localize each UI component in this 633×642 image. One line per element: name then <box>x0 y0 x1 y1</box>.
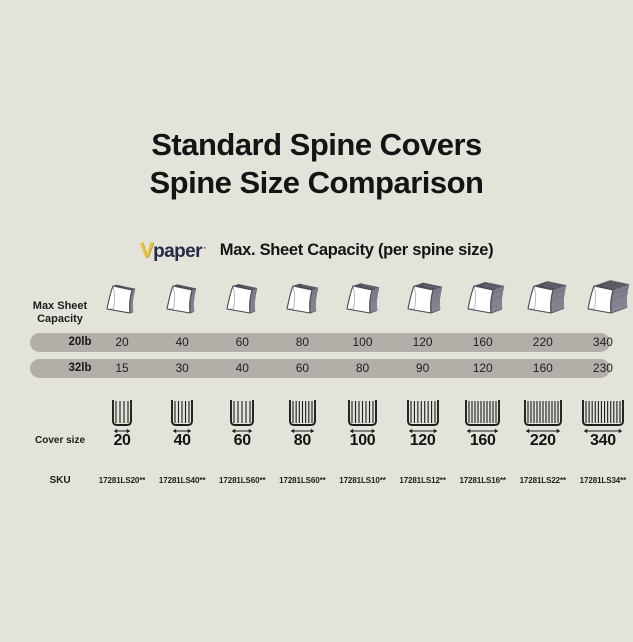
cover-size-cell: 60 <box>212 430 272 452</box>
capacity-cell-32lb: 90 <box>393 359 453 378</box>
cover-size-value-row: 20406080100120160220340 <box>92 430 633 452</box>
paper-stack-icon <box>393 277 453 325</box>
cover-size-cell: 100 <box>332 430 392 452</box>
sku-cell: 17281LS12** <box>393 473 453 489</box>
paper-stack-icon <box>453 277 513 325</box>
paper-stack-icon <box>573 277 633 325</box>
capacity-cell-20lb: 20 <box>92 333 152 352</box>
sku-cell: 17281LS60** <box>272 473 332 489</box>
capacity-cell-20lb: 160 <box>453 333 513 352</box>
subtitle: Max. Sheet Capacity (per spine size) <box>220 241 493 260</box>
paper-stack-icon <box>332 277 392 325</box>
capacity-values-32lb: 153040608090120160230 <box>92 359 633 378</box>
capacity-cell-32lb: 60 <box>272 359 332 378</box>
capacity-cell-32lb: 120 <box>453 359 513 378</box>
paper-stack-icon <box>272 277 332 325</box>
cover-size-cell: 40 <box>152 430 212 452</box>
capacity-cell-32lb: 15 <box>92 359 152 378</box>
cover-size-cell: 120 <box>393 430 453 452</box>
sku-cell: 17281LS40** <box>152 473 212 489</box>
capacity-cell-20lb: 340 <box>573 333 633 352</box>
capacity-cell-20lb: 100 <box>332 333 392 352</box>
capacity-row-32lb: 32lb 153040608090120160230 <box>30 359 610 378</box>
capacity-cell-32lb: 40 <box>212 359 272 378</box>
sku-cell: 17281LS22** <box>513 473 573 489</box>
cover-size-cell: 20 <box>92 430 152 452</box>
logo-registered-icon: · <box>203 244 205 253</box>
capacity-cell-32lb: 160 <box>513 359 573 378</box>
sku-cell: 17281LS10** <box>332 473 392 489</box>
capacity-cell-20lb: 80 <box>272 333 332 352</box>
capacity-cell-20lb: 120 <box>393 333 453 352</box>
capacity-values-20lb: 20406080100120160220340 <box>92 333 633 352</box>
paper-stack-icon <box>212 277 272 325</box>
capacity-cell-20lb: 220 <box>513 333 573 352</box>
page-title: Standard Spine Covers Spine Size Compari… <box>0 126 633 202</box>
title-line-2: Spine Size Comparison <box>0 164 633 202</box>
cover-size-cell: 80 <box>272 430 332 452</box>
paper-stack-icon-svg <box>159 279 205 325</box>
paper-stack-icon-svg <box>99 279 145 325</box>
capacity-cell-32lb: 80 <box>332 359 392 378</box>
paper-stack-icon-svg <box>580 279 626 325</box>
paper-stack-icon <box>152 277 212 325</box>
capacity-cell-20lb: 60 <box>212 333 272 352</box>
paper-stack-icon-svg <box>400 279 446 325</box>
paper-stack-icon-svg <box>520 279 566 325</box>
sku-value-row: 17281LS20**17281LS40**17281LS60**17281LS… <box>92 473 633 489</box>
paper-stack-icon-row <box>92 277 633 325</box>
paper-stack-icon-svg <box>279 279 325 325</box>
infographic-canvas: Standard Spine Covers Spine Size Compari… <box>0 0 633 642</box>
cover-size-cell: 160 <box>453 430 513 452</box>
paper-stack-icon-svg <box>339 279 385 325</box>
paper-stack-icon-svg <box>219 279 265 325</box>
paper-stack-icon-svg <box>460 279 506 325</box>
paper-stack-icon <box>92 277 152 325</box>
logo-wordmark: paper <box>153 242 202 261</box>
title-line-1: Standard Spine Covers <box>0 126 633 164</box>
capacity-cell-20lb: 40 <box>152 333 212 352</box>
paper-stack-icon <box>513 277 573 325</box>
capacity-row-20lb: 20lb 20406080100120160220340 <box>30 333 610 352</box>
brand-row: Vpaper· Max. Sheet Capacity (per spine s… <box>0 240 633 261</box>
sku-cell: 17281LS34** <box>573 473 633 489</box>
cover-size-cell: 340 <box>573 430 633 452</box>
logo-v-mark: V <box>140 240 153 261</box>
sku-cell: 17281LS20** <box>92 473 152 489</box>
vpaper-logo: Vpaper· <box>140 240 206 261</box>
capacity-cell-32lb: 30 <box>152 359 212 378</box>
sku-cell: 17281LS60** <box>212 473 272 489</box>
cover-size-cell: 220 <box>513 430 573 452</box>
sku-cell: 17281LS16** <box>453 473 513 489</box>
capacity-cell-32lb: 230 <box>573 359 633 378</box>
